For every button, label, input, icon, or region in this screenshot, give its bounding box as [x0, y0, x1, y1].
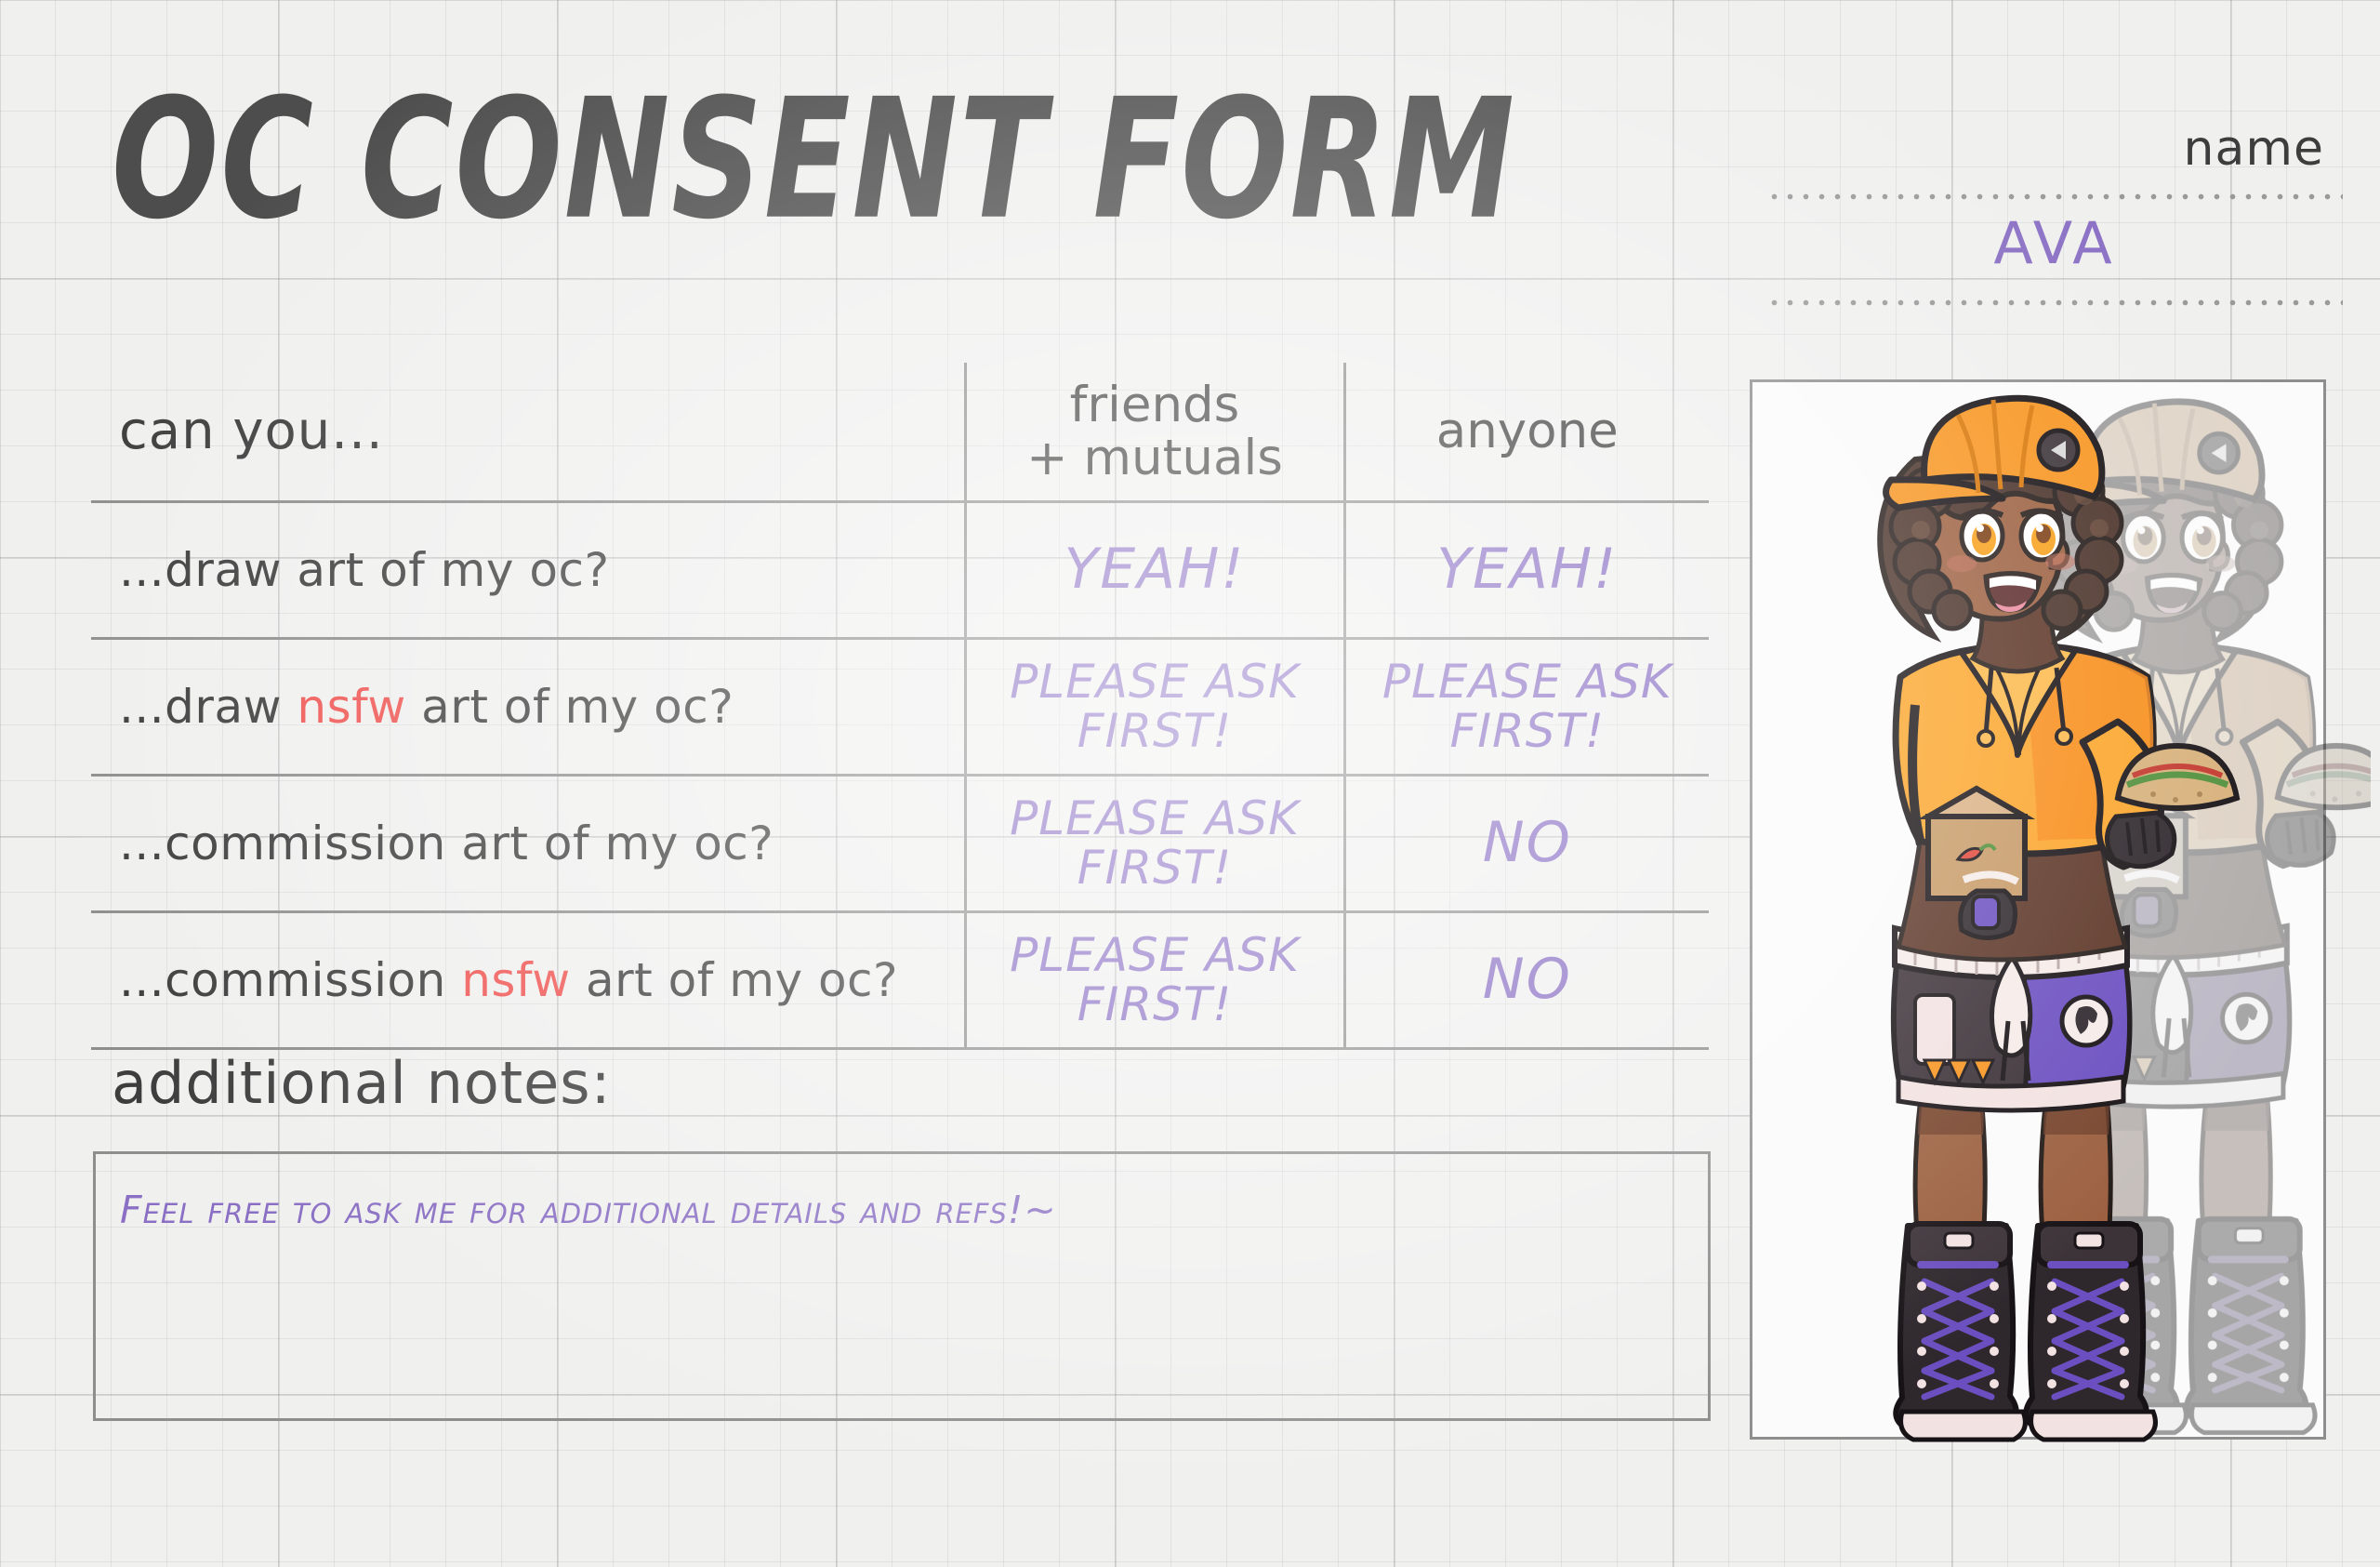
additional-notes-text[interactable]: Feel free to ask me for additional detai… — [96, 1154, 1708, 1232]
table-row: ...commission art of my oc? PLEASE ASK F… — [91, 776, 1709, 912]
question-text: ...commission — [119, 953, 461, 1007]
consent-form-page: OC CONSENT FORM name AVA can you... frie… — [0, 0, 2380, 1567]
table-row: ...commission nsfw art of my oc? PLEASE … — [91, 912, 1709, 1049]
additional-notes-label: additional notes: — [112, 1049, 612, 1117]
name-section: name AVA — [1766, 121, 2343, 306]
question-nsfw-tag: nsfw — [297, 680, 405, 734]
answer-friends[interactable]: PLEASE ASK FIRST! — [965, 912, 1344, 1049]
question-text-suffix: art of my oc? — [406, 680, 734, 734]
name-label: name — [1766, 121, 2343, 177]
header-anyone-col: anyone — [1344, 363, 1709, 502]
page-title: OC CONSENT FORM — [112, 63, 1516, 256]
answer-anyone[interactable]: YEAH! — [1344, 502, 1709, 639]
answer-friends[interactable]: PLEASE ASK FIRST! — [965, 639, 1344, 776]
name-dotted-line-top — [1766, 193, 2343, 200]
question-text-suffix: art of my oc? — [571, 953, 898, 1007]
question-cell: ...commission art of my oc? — [91, 776, 965, 912]
answer-friends[interactable]: PLEASE ASK FIRST! — [965, 776, 1344, 912]
table-header-row: can you... friends + mutuals anyone — [91, 363, 1709, 502]
question-nsfw-tag: nsfw — [461, 953, 570, 1007]
question-text: ...draw art of my oc? — [119, 543, 610, 597]
header-question-col: can you... — [91, 363, 965, 502]
question-cell: ...commission nsfw art of my oc? — [91, 912, 965, 1049]
table-bottom-rule — [965, 1049, 1344, 1051]
question-text: ...commission art of my oc? — [119, 817, 773, 870]
header-friends-line1: friends — [1070, 377, 1240, 433]
table-bottom-rule — [1344, 1049, 1709, 1051]
question-cell: ...draw nsfw art of my oc? — [91, 639, 965, 776]
character-illustration — [1720, 370, 2371, 1477]
additional-notes-box[interactable]: Feel free to ask me for additional detai… — [93, 1151, 1711, 1421]
answer-friends[interactable]: YEAH! — [965, 502, 1344, 639]
answer-anyone[interactable]: PLEASE ASK FIRST! — [1344, 639, 1709, 776]
consent-table: can you... friends + mutuals anyone ...d… — [91, 363, 1709, 1050]
table-row: ...draw nsfw art of my oc? PLEASE ASK FI… — [91, 639, 1709, 776]
answer-anyone[interactable]: NO — [1344, 776, 1709, 912]
name-value[interactable]: AVA — [1766, 200, 2343, 283]
header-friends-line2: + mutuals — [1026, 430, 1283, 486]
question-text: ...draw — [119, 680, 297, 734]
table-row: ...draw art of my oc? YEAH! YEAH! — [91, 502, 1709, 639]
name-dotted-line-bottom — [1766, 299, 2343, 306]
question-cell: ...draw art of my oc? — [91, 502, 965, 639]
answer-anyone[interactable]: NO — [1344, 912, 1709, 1049]
header-friends-col: friends + mutuals — [965, 363, 1344, 502]
